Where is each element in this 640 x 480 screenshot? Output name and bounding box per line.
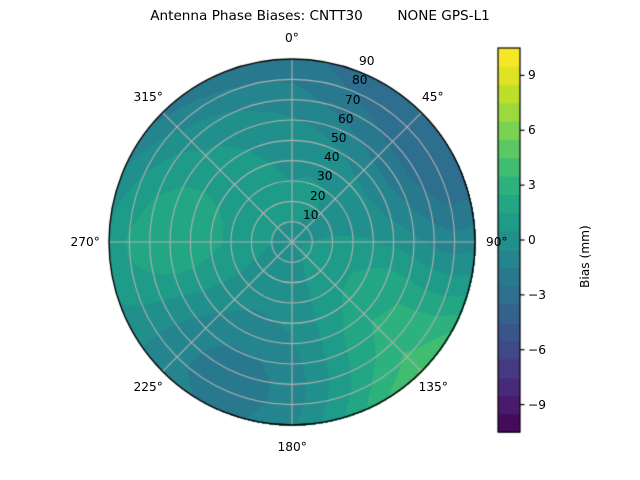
colorbar-tick-label-0: 0 xyxy=(528,233,536,247)
radial-tick-label-90: 90 xyxy=(359,54,375,68)
page-title: Antenna Phase Biases: CNTT30 NONE GPS-L1 xyxy=(0,8,640,24)
radial-tick-label-20: 20 xyxy=(310,189,326,203)
radial-tick-label-50: 50 xyxy=(331,131,347,145)
radial-tick-label-30: 30 xyxy=(317,169,333,183)
colorbar-tick-label-neg6: −6 xyxy=(528,343,546,357)
radial-tick-label-10: 10 xyxy=(303,208,319,222)
radial-tick-label-60: 60 xyxy=(338,112,354,126)
colorbar-tick-label-neg9: −9 xyxy=(528,398,546,412)
azimuth-tick-label-0: 0° xyxy=(285,31,299,45)
radial-tick-label-80: 80 xyxy=(352,73,368,87)
colorbar-tick-label-6: 6 xyxy=(528,123,536,137)
azimuth-tick-label-45: 45° xyxy=(422,90,444,104)
azimuth-tick-label-180: 180° xyxy=(278,440,307,454)
colorbar-tick-label-9: 9 xyxy=(528,68,536,82)
radial-tick-label-70: 70 xyxy=(345,93,361,107)
colorbar-tick-label-neg3: −3 xyxy=(528,288,546,302)
colorbar-axis-label: Bias (mm) xyxy=(578,225,592,288)
colorbar-tick-label-3: 3 xyxy=(528,178,536,192)
azimuth-tick-label-135: 135° xyxy=(419,380,448,394)
azimuth-tick-label-270: 270° xyxy=(71,235,100,249)
azimuth-tick-label-90: 90° xyxy=(486,235,508,249)
radial-tick-label-40: 40 xyxy=(324,150,340,164)
azimuth-tick-label-225: 225° xyxy=(134,380,163,394)
azimuth-tick-label-315: 315° xyxy=(134,90,163,104)
figure-canvas-root: Antenna Phase Biases: CNTT30 NONE GPS-L1… xyxy=(0,0,640,480)
